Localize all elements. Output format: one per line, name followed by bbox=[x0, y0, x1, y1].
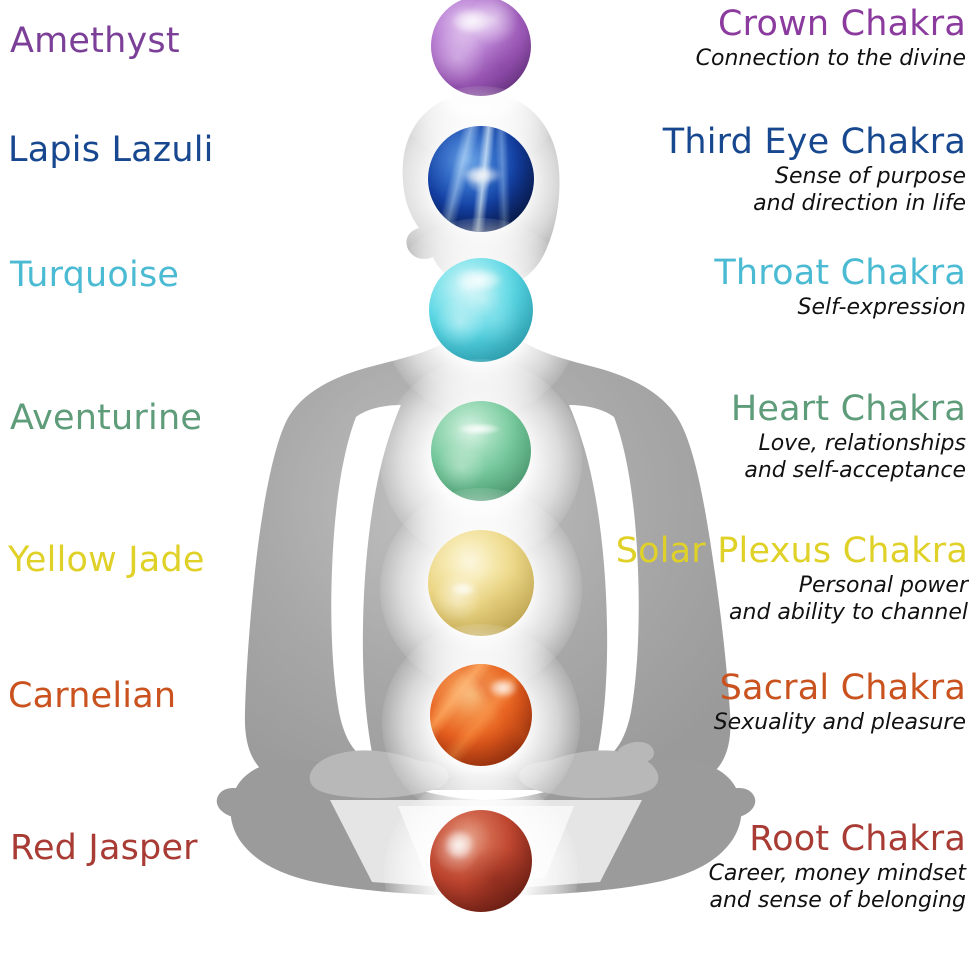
right-hand-shape bbox=[705, 788, 756, 818]
right-foot-toes bbox=[618, 742, 654, 763]
chakra-desc-heart-line-0: Love, relationships bbox=[731, 431, 966, 458]
chakra-desc-third-eye-line-1: and direction in life bbox=[663, 191, 966, 218]
stone-label-aventurine: Aventurine bbox=[10, 401, 202, 436]
chakra-diagram: Amethyst Lapis Lazuli Turquoise Aventuri… bbox=[0, 0, 972, 925]
left-hand-shape bbox=[217, 788, 268, 818]
chakra-desc-third-eye-line-0: Sense of purpose bbox=[663, 164, 966, 191]
stone-label-turquoise: Turquoise bbox=[10, 258, 179, 293]
chakra-title-solar-plexus: Solar Plexus Chakra bbox=[616, 533, 968, 570]
chakra-title-third-eye: Third Eye Chakra bbox=[663, 124, 966, 161]
chakra-desc-root-line-1: and sense of belonging bbox=[709, 888, 966, 915]
chakra-block-heart: Heart Chakra Love, relationships and sel… bbox=[731, 391, 966, 485]
chakra-desc-throat-line-0: Self-expression bbox=[714, 295, 966, 322]
chakra-desc-solar-plexus-line-0: Personal power bbox=[616, 573, 968, 600]
chakra-title-sacral: Sacral Chakra bbox=[714, 670, 966, 707]
red-jasper-sphere bbox=[406, 798, 556, 948]
chakra-desc-crown-line-0: Connection to the divine bbox=[696, 46, 966, 73]
chakra-block-crown: Crown Chakra Connection to the divine bbox=[696, 6, 966, 73]
chakra-title-crown: Crown Chakra bbox=[696, 6, 966, 43]
chakra-desc-root-line-0: Career, money mindset bbox=[709, 861, 966, 888]
stone-label-amethyst: Amethyst bbox=[10, 24, 180, 59]
chakra-block-sacral: Sacral Chakra Sexuality and pleasure bbox=[714, 670, 966, 737]
stone-label-red-jasper: Red Jasper bbox=[10, 831, 198, 866]
chakra-title-root: Root Chakra bbox=[709, 821, 966, 858]
stone-label-lapis-lazuli: Lapis Lazuli bbox=[8, 133, 214, 168]
stone-label-carnelian: Carnelian bbox=[8, 679, 176, 714]
chakra-title-heart: Heart Chakra bbox=[731, 391, 966, 428]
chakra-block-throat: Throat Chakra Self-expression bbox=[714, 255, 966, 322]
stone-label-yellow-jade: Yellow Jade bbox=[8, 543, 205, 578]
chakra-title-throat: Throat Chakra bbox=[714, 255, 966, 292]
chakra-desc-heart-line-1: and self-acceptance bbox=[731, 458, 966, 485]
chakra-block-third-eye: Third Eye Chakra Sense of purpose and di… bbox=[663, 124, 966, 218]
chakra-desc-solar-plexus-line-1: and ability to channel bbox=[616, 600, 968, 627]
chakra-block-root: Root Chakra Career, money mindset and se… bbox=[709, 821, 966, 915]
chakra-desc-sacral-line-0: Sexuality and pleasure bbox=[714, 710, 966, 737]
chakra-block-solar-plexus: Solar Plexus Chakra Personal power and a… bbox=[616, 533, 968, 627]
